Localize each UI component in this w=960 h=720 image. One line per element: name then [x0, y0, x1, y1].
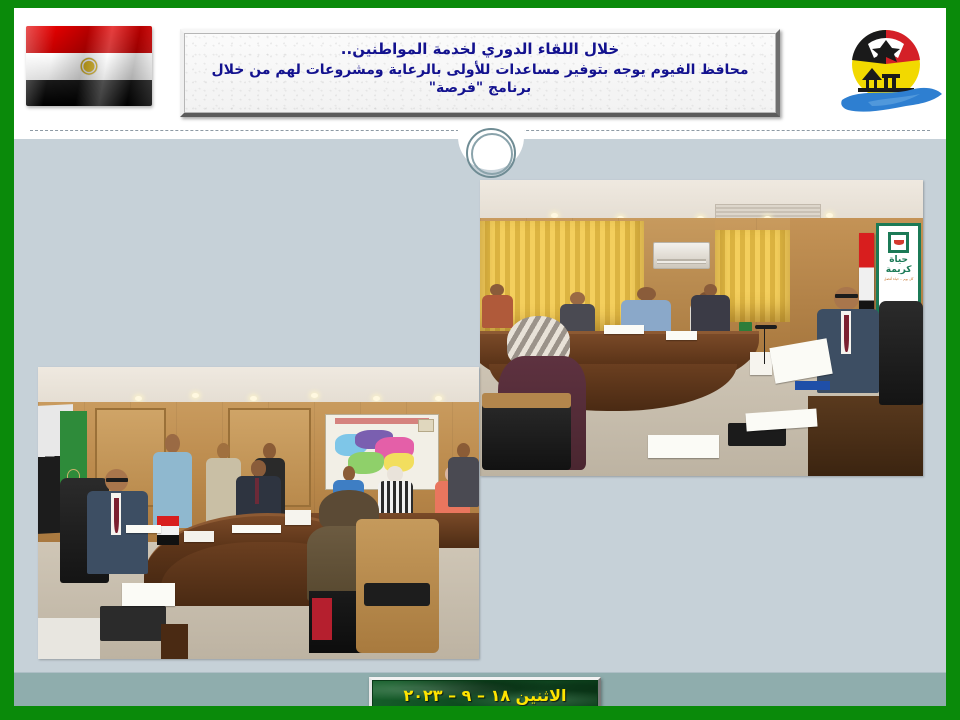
headline-line-2: محافظ الفيوم يوجه بتوفير مساعدات للأولى …	[195, 61, 765, 98]
egypt-flag: ◉	[20, 20, 158, 118]
slide-root: ◉ خلال اللقاء الدوري لخدمة المواطنين.. م…	[0, 0, 960, 720]
header-band: ◉ خلال اللقاء الدوري لخدمة المواطنين.. م…	[14, 8, 946, 139]
photo-governor-meeting-citizen[interactable]: حياة كريمة كل يوم .. حياة أفضل	[480, 180, 923, 476]
date-plaque: الاثنين ١٨ – ٩ – ٢٠٢٣	[369, 677, 601, 706]
content-area: حياة كريمة كل يوم .. حياة أفضل	[14, 139, 946, 672]
hayah-karima-subtitle: كل يوم .. حياة أفضل	[884, 277, 913, 281]
hayah-karima-line-2: كريمة	[886, 266, 912, 275]
slide-inner: ◉ خلال اللقاء الدوري لخدمة المواطنين.. م…	[14, 8, 946, 706]
headline-line-1: خلال اللقاء الدوري لخدمة المواطنين..	[195, 39, 765, 61]
headline-plaque: خلال اللقاء الدوري لخدمة المواطنين.. محا…	[180, 29, 780, 117]
date-label: الاثنين ١٨ – ٩ – ٢٠٢٣	[403, 686, 566, 705]
divider-ring-ornament	[466, 128, 516, 178]
fayoum-governorate-logo	[828, 18, 946, 122]
photo-governor-meeting-wide[interactable]	[38, 367, 479, 659]
